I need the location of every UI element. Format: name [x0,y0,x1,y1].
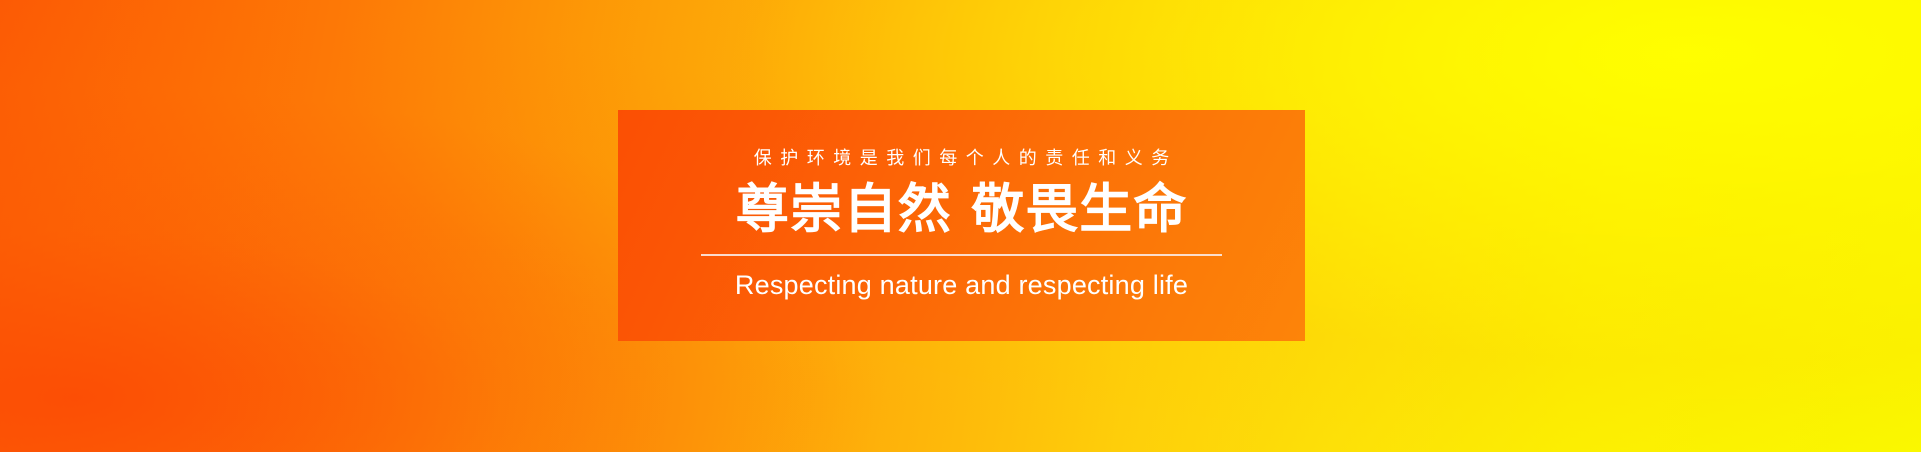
english-subtitle: Respecting nature and respecting life [735,271,1188,301]
environmental-banner: 保护环境是我们每个人的责任和义务 尊崇自然 敬畏生命 Respecting na… [0,0,1921,452]
slogan-panel-content: 保护环境是我们每个人的责任和义务 尊崇自然 敬畏生命 Respecting na… [618,150,1305,301]
horizontal-divider [701,254,1222,256]
chinese-tagline: 保护环境是我们每个人的责任和义务 [745,150,1178,168]
slogan-panel: 保护环境是我们每个人的责任和义务 尊崇自然 敬畏生命 Respecting na… [618,110,1305,341]
chinese-headline: 尊崇自然 敬畏生命 [736,181,1187,238]
